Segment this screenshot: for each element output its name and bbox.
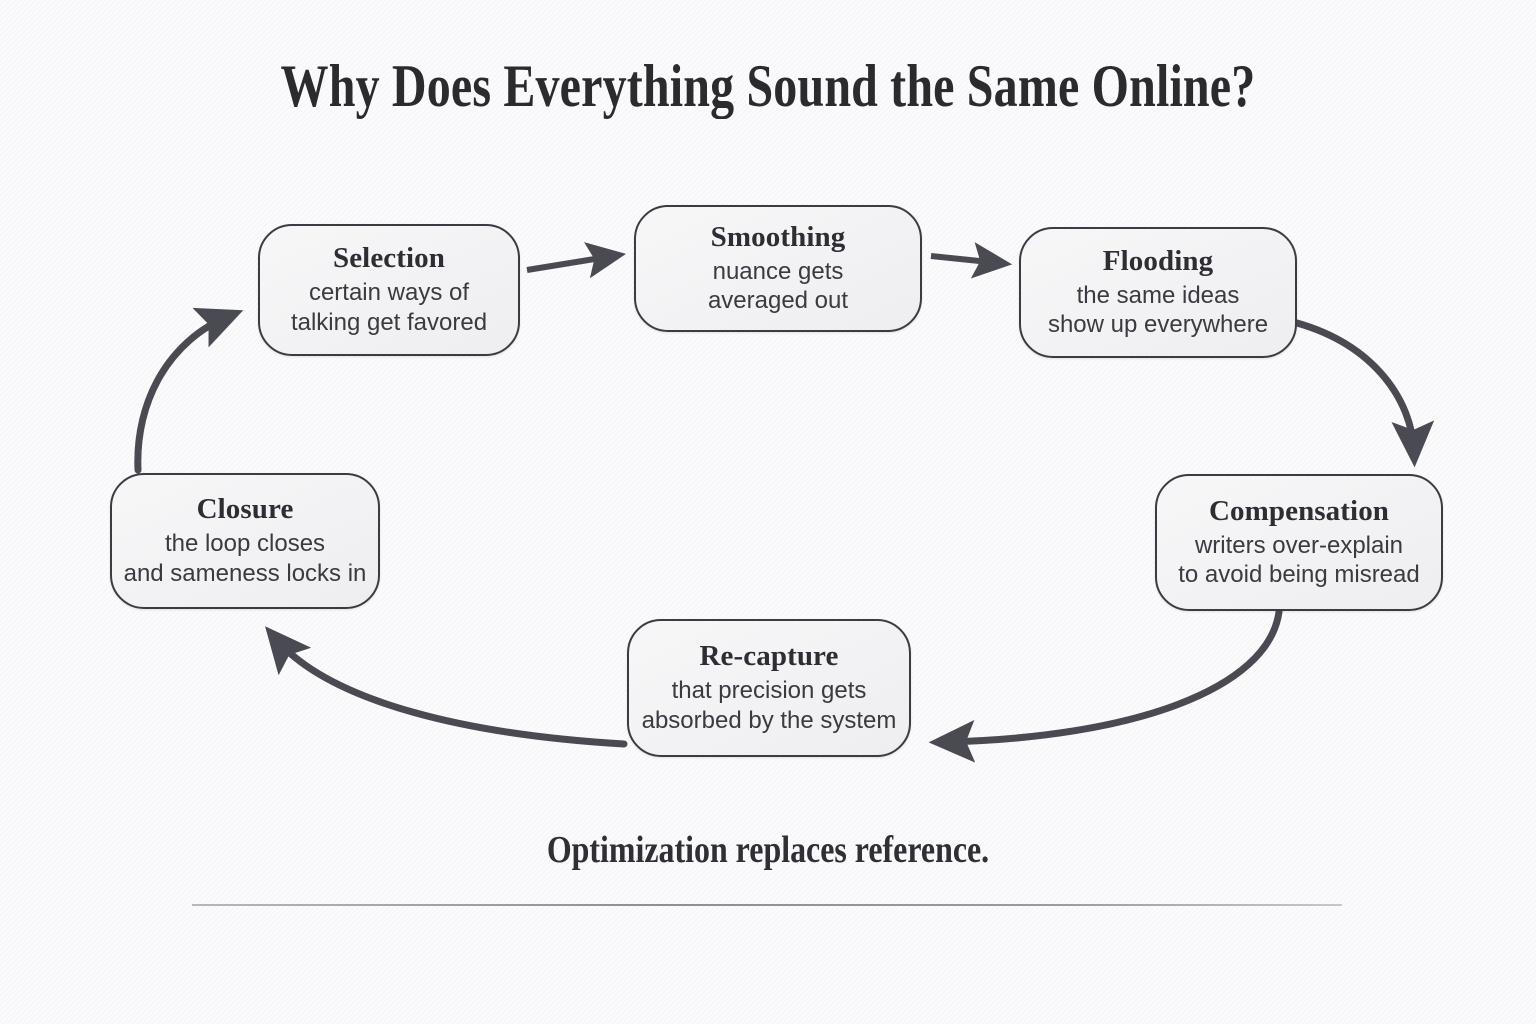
node-selection-title: Selection [333,243,445,273]
node-compensation-line-2: to avoid being misread [1178,560,1419,589]
node-smoothing[interactable]: Smoothing nuance gets averaged out [634,205,922,332]
node-closure-title: Closure [197,494,294,524]
edge-closure-selection [138,316,229,470]
node-recapture-line-1: that precision gets [672,676,867,705]
node-selection[interactable]: Selection certain ways of talking get fa… [258,224,520,356]
node-recapture-title: Re-capture [700,641,839,671]
node-compensation-line-1: writers over-explain [1195,531,1403,560]
edge-compensation-recapture [944,612,1279,742]
footer-caption: Optimization replaces reference. [123,828,1413,872]
node-compensation-title: Compensation [1209,496,1389,526]
node-selection-line-2: talking get favored [291,308,487,337]
node-smoothing-line-2: averaged out [708,286,848,315]
edge-smoothing-flooding [931,256,999,263]
node-flooding[interactable]: Flooding the same ideas show up everywhe… [1019,227,1297,358]
node-closure-line-1: the loop closes [165,529,325,558]
edge-recapture-closure [275,638,624,744]
node-smoothing-title: Smoothing [711,222,846,252]
node-closure-line-2: and sameness locks in [124,559,367,588]
footer-divider [192,904,1342,906]
node-flooding-line-2: show up everywhere [1048,310,1268,339]
node-compensation[interactable]: Compensation writers over-explain to avo… [1155,474,1443,611]
node-recapture[interactable]: Re-capture that precision gets absorbed … [627,619,911,757]
node-smoothing-line-1: nuance gets [713,257,844,286]
node-recapture-line-2: absorbed by the system [642,706,897,735]
node-flooding-title: Flooding [1103,246,1213,276]
node-selection-line-1: certain ways of [309,278,469,307]
edge-flooding-compensation [1297,323,1414,452]
diagram-canvas: Why Does Everything Sound the Same Onlin… [0,0,1536,1024]
node-closure[interactable]: Closure the loop closes and sameness loc… [110,473,380,609]
node-flooding-line-1: the same ideas [1077,281,1240,310]
edge-selection-smoothing [527,256,613,270]
